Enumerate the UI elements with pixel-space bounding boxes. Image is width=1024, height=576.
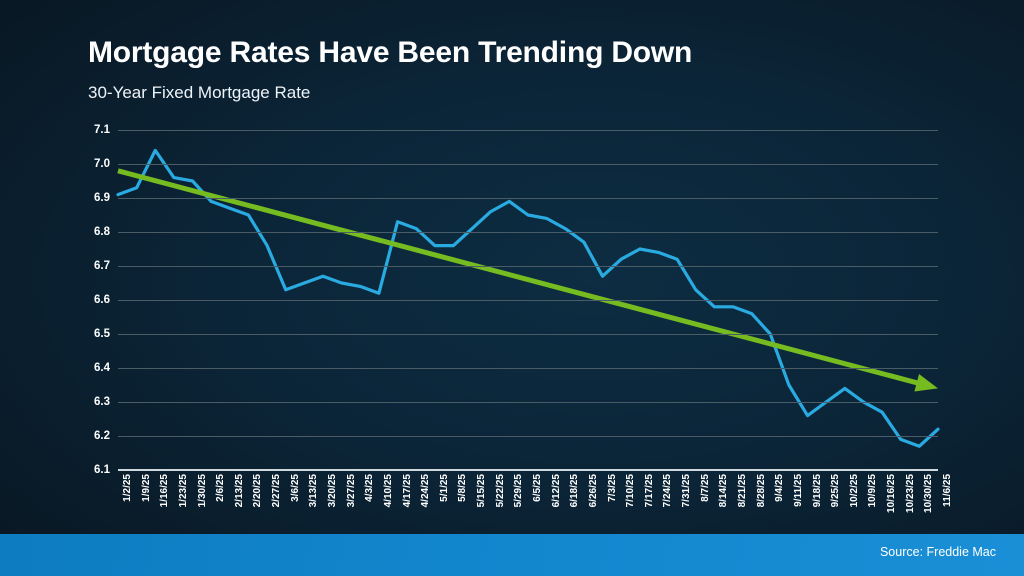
x-axis-tick-label: 7/3/25	[607, 474, 618, 502]
y-axis-tick-label: 6.7	[94, 260, 110, 272]
x-axis-tick-label: 9/18/25	[812, 474, 823, 507]
x-axis-tick-label: 2/20/25	[252, 474, 263, 507]
x-axis-tick-label: 1/30/25	[197, 474, 208, 507]
x-axis-tick-label: 6/26/25	[588, 474, 599, 507]
x-axis-tick-label: 3/13/25	[308, 474, 319, 507]
x-axis-tick-label: 2/13/25	[234, 474, 245, 507]
x-axis-tick-label: 7/10/25	[625, 474, 636, 507]
x-axis-tick-label: 10/23/25	[905, 474, 916, 513]
x-axis-tick-label: 9/25/25	[830, 474, 841, 507]
y-axis-tick-label: 6.2	[94, 430, 110, 442]
plot-area	[118, 130, 938, 470]
x-axis-line	[118, 469, 938, 471]
gridline	[118, 300, 938, 301]
gridline	[118, 198, 938, 199]
x-axis-tick-label: 5/29/25	[513, 474, 524, 507]
x-axis-tick-label: 9/4/25	[774, 474, 785, 502]
x-axis-tick-label: 10/16/25	[886, 474, 897, 513]
gridline	[118, 266, 938, 267]
x-axis-tick-label: 4/24/25	[420, 474, 431, 507]
y-axis-tick-label: 6.8	[94, 226, 110, 238]
y-axis-tick-label: 6.6	[94, 294, 110, 306]
page-title: Mortgage Rates Have Been Trending Down	[88, 36, 692, 70]
x-axis-tick-label: 11/6/25	[942, 474, 953, 507]
gridline	[118, 164, 938, 165]
y-axis-tick-label: 6.4	[94, 362, 110, 374]
x-axis-tick-label: 10/2/25	[849, 474, 860, 507]
x-axis-tick-label: 6/18/25	[569, 474, 580, 507]
y-axis-tick-label: 6.1	[94, 464, 110, 476]
x-axis-tick-label: 8/28/25	[756, 474, 767, 507]
x-axis-tick-label: 5/15/25	[476, 474, 487, 507]
gridline	[118, 334, 938, 335]
x-axis-tick-label: 4/10/25	[383, 474, 394, 507]
x-axis-tick-label: 8/14/25	[718, 474, 729, 507]
x-axis-tick-label: 10/30/25	[923, 474, 934, 513]
x-axis-tick-label: 5/8/25	[457, 474, 468, 502]
x-axis-tick-label: 1/2/25	[122, 474, 133, 502]
x-axis-tick-label: 1/16/25	[159, 474, 170, 507]
x-axis-tick-label: 1/23/25	[178, 474, 189, 507]
x-axis-tick-label: 6/12/25	[551, 474, 562, 507]
x-axis-tick-label: 8/21/25	[737, 474, 748, 507]
gridline	[118, 130, 938, 131]
chart-subtitle: 30-Year Fixed Mortgage Rate	[88, 83, 692, 103]
x-axis-labels: 1/2/251/9/251/16/251/23/251/30/252/6/252…	[118, 474, 938, 534]
y-axis-tick-label: 6.5	[94, 328, 110, 340]
x-axis-tick-label: 8/7/25	[700, 474, 711, 502]
x-axis-tick-label: 4/3/25	[364, 474, 375, 502]
x-axis-tick-label: 2/6/25	[215, 474, 226, 502]
y-axis-tick-label: 7.0	[94, 158, 110, 170]
x-axis-tick-label: 6/5/25	[532, 474, 543, 502]
y-axis-tick-label: 7.1	[94, 124, 110, 136]
x-axis-tick-label: 4/17/25	[402, 474, 413, 507]
gridline	[118, 436, 938, 437]
x-axis-tick-label: 7/24/25	[662, 474, 673, 507]
x-axis-tick-label: 2/27/25	[271, 474, 282, 507]
slide-canvas: Mortgage Rates Have Been Trending Down 3…	[0, 0, 1024, 576]
x-axis-tick-label: 1/9/25	[141, 474, 152, 502]
x-axis-tick-label: 5/22/25	[495, 474, 506, 507]
x-axis-tick-label: 3/6/25	[290, 474, 301, 502]
x-axis-tick-label: 9/11/25	[793, 474, 804, 507]
gridline	[118, 368, 938, 369]
x-axis-tick-label: 5/1/25	[439, 474, 450, 502]
x-axis-tick-label: 3/20/25	[327, 474, 338, 507]
gridline	[118, 232, 938, 233]
y-axis-tick-label: 6.9	[94, 192, 110, 204]
x-axis-tick-label: 3/27/25	[346, 474, 357, 507]
y-axis-tick-label: 6.3	[94, 396, 110, 408]
y-axis-labels: 7.17.06.96.86.76.66.56.46.36.26.1	[72, 130, 110, 470]
footer-bar: Source: Freddie Mac	[0, 534, 1024, 576]
trend-arrow-line	[118, 171, 921, 384]
header-block: Mortgage Rates Have Been Trending Down 3…	[88, 36, 692, 103]
x-axis-tick-label: 7/31/25	[681, 474, 692, 507]
trend-arrow-head	[914, 374, 938, 391]
x-axis-tick-label: 10/9/25	[867, 474, 878, 507]
gridline	[118, 402, 938, 403]
source-attribution: Source: Freddie Mac	[880, 545, 996, 559]
x-axis-tick-label: 7/17/25	[644, 474, 655, 507]
